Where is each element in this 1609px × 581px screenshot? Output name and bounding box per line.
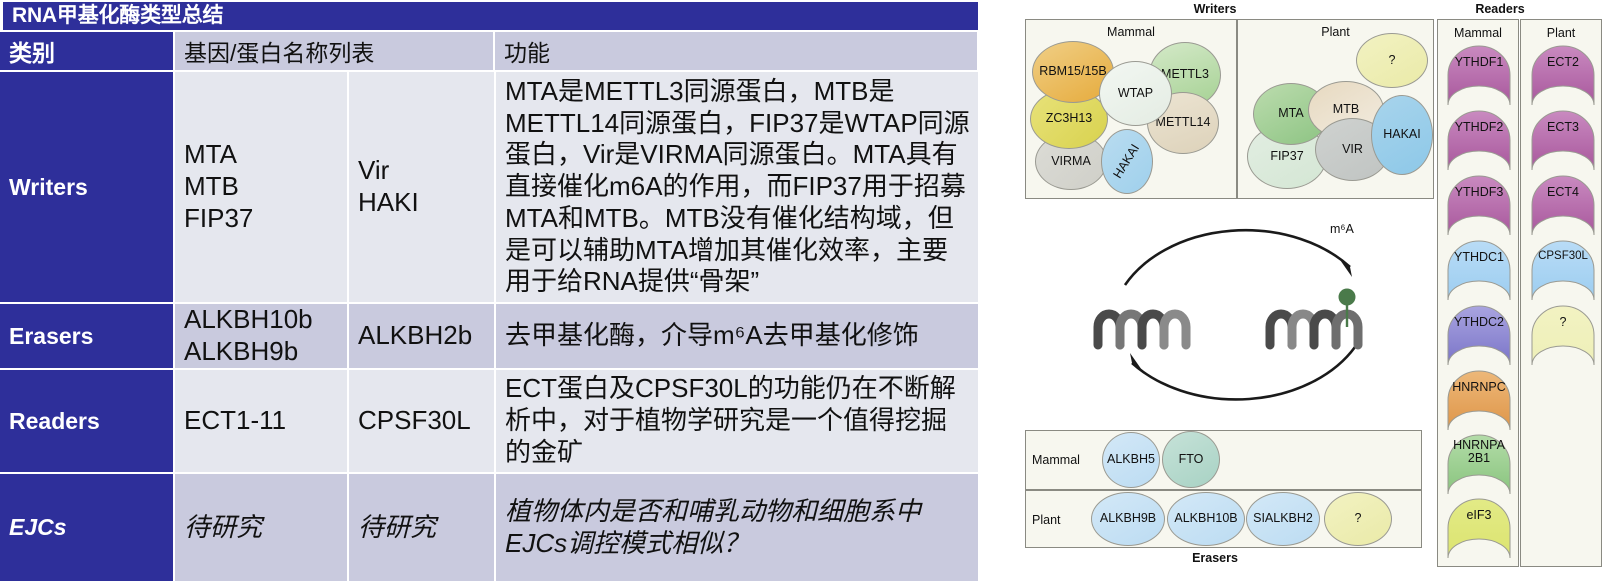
- table-row: Erasers ALKBH10b ALKBH9b ALKBH2b 去甲基化酶，介…: [0, 304, 978, 368]
- protein-wtap: WTAP: [1099, 61, 1172, 126]
- protein-label: MTA: [1278, 107, 1303, 120]
- genes-list-b: CPSF30L: [349, 405, 471, 437]
- row-category-writers: Writers: [0, 72, 173, 302]
- row-genes-b-writers: Vir HAKI: [349, 72, 494, 302]
- table-header-row: 类别 基因/蛋白名称列表 功能: [0, 32, 978, 70]
- protein-label: WTAP: [1118, 87, 1153, 100]
- reader-plant-unknown: ?: [1530, 305, 1596, 367]
- readers-plant-label: Plant: [1520, 26, 1602, 40]
- reader-cpsf30l: CPSF30L: [1530, 240, 1596, 302]
- genes-list-a: ECT1-11: [175, 405, 286, 437]
- category-label: EJCs: [0, 514, 67, 541]
- erasers-panel-title: Erasers: [1000, 551, 1430, 565]
- protein-label: ECT3: [1530, 121, 1596, 134]
- function-text: ECT蛋白及CPSF30L的功能仍在不断解析中，对于植物学研究是一个值得挖掘的金…: [496, 373, 978, 468]
- protein-label: ?: [1389, 54, 1396, 67]
- reader-hnrnpa2b1: HNRNPA 2B1: [1446, 434, 1512, 496]
- readers-panel-title: Readers: [1395, 2, 1605, 16]
- row-genes-b-readers: CPSF30L: [349, 370, 494, 472]
- genes-list-a: ALKBH10b ALKBH9b: [175, 304, 347, 367]
- protein-label: YTHDC1: [1446, 251, 1512, 264]
- protein-label: HNRNPA 2B1: [1446, 439, 1512, 465]
- protein-fto: FTO: [1162, 431, 1220, 488]
- protein-alkbh10b: ALKBH10B: [1167, 492, 1245, 546]
- genes-list-a: 待研究: [175, 512, 262, 544]
- reader-ythdc2: YTHDC2: [1446, 305, 1512, 367]
- row-genes-a-erasers: ALKBH10b ALKBH9b: [175, 304, 347, 368]
- slide-root: RNA甲基化酶类型总结 类别 基因/蛋白名称列表 功能 Writers: [0, 0, 1609, 581]
- header-label-genes: 基因/蛋白名称列表: [175, 34, 374, 68]
- row-genes-a-ejcs: 待研究: [175, 474, 347, 581]
- row-function-writers: MTA是METTL3同源蛋白，MTB是METTL14同源蛋白，FIP37是WTA…: [496, 72, 978, 302]
- protein-label: FIP37: [1270, 150, 1303, 163]
- protein-plant-unknown: ?: [1356, 33, 1428, 88]
- protein-label: ECT2: [1530, 56, 1596, 69]
- genes-list-b: ALKBH2b: [349, 320, 472, 352]
- protein-label: YTHDC2: [1446, 316, 1512, 329]
- m6a-machinery-diagram: Writers Readers Erasers Mammal Plant VIR…: [990, 0, 1609, 581]
- protein-label: FTO: [1179, 453, 1204, 466]
- protein-label: ZC3H13: [1046, 112, 1093, 125]
- reader-ect2: ECT2: [1530, 45, 1596, 107]
- header-label-category: 类别: [0, 34, 55, 68]
- protein-label: ALKBH5: [1107, 453, 1155, 466]
- protein-label: YTHDF1: [1446, 56, 1512, 69]
- row-function-erasers: 去甲基化酶，介导m⁶A去甲基化修饰: [496, 304, 978, 368]
- category-label: Readers: [0, 408, 100, 435]
- header-cell-category: 类别: [0, 32, 173, 70]
- protein-label: YTHDF3: [1446, 186, 1512, 199]
- protein-label: ECT4: [1530, 186, 1596, 199]
- protein-label: HNRNPC: [1446, 381, 1512, 394]
- reader-hnrnpc: HNRNPC: [1446, 370, 1512, 432]
- protein-label: METTL14: [1156, 116, 1211, 129]
- protein-label: YTHDF2: [1446, 121, 1512, 134]
- genes-list-b: 待研究: [349, 512, 436, 544]
- row-category-ejcs: EJCs: [0, 474, 173, 581]
- summary-table-panel: RNA甲基化酶类型总结 类别 基因/蛋白名称列表 功能 Writers: [0, 0, 980, 581]
- writers-mammal-label: Mammal: [1025, 25, 1237, 39]
- category-label: Writers: [0, 174, 88, 201]
- protein-label: CPSF30L: [1530, 251, 1596, 263]
- function-text: MTA是METTL3同源蛋白，MTB是METTL14同源蛋白，FIP37是WTA…: [496, 76, 978, 298]
- protein-label: MTB: [1333, 103, 1359, 116]
- row-genes-a-readers: ECT1-11: [175, 370, 347, 472]
- protein-label: eIF3: [1446, 509, 1512, 522]
- table-row: EJCs 待研究 待研究 植物体内是否和哺乳动物和细胞系中EJCs调控模式相似？: [0, 474, 978, 581]
- row-function-ejcs: 植物体内是否和哺乳动物和细胞系中EJCs调控模式相似？: [496, 474, 978, 581]
- reader-ect4: ECT4: [1530, 175, 1596, 237]
- summary-table: 类别 基因/蛋白名称列表 功能 Writers MTA MTB FIP37: [0, 32, 978, 581]
- reader-ect3: ECT3: [1530, 110, 1596, 172]
- row-genes-a-writers: MTA MTB FIP37: [175, 72, 347, 302]
- protein-label: ALKBH9B: [1100, 512, 1156, 525]
- header-cell-function: 功能: [495, 32, 977, 70]
- row-genes-b-ejcs: 待研究: [349, 474, 494, 581]
- protein-label: ALKBH10B: [1174, 512, 1237, 525]
- reader-ythdc1: YTHDC1: [1446, 240, 1512, 302]
- protein-eraser-plant-unknown: ?: [1324, 492, 1392, 546]
- protein-label: VIRMA: [1051, 155, 1091, 168]
- row-category-erasers: Erasers: [0, 304, 173, 368]
- header-cell-genes: 基因/蛋白名称列表: [175, 32, 493, 70]
- protein-label: ?: [1530, 316, 1596, 329]
- category-label: Erasers: [0, 323, 93, 350]
- row-category-readers: Readers: [0, 370, 173, 472]
- writers-panel-title: Writers: [1000, 2, 1430, 16]
- m6a-label: m⁶A: [1330, 222, 1354, 236]
- protein-hakai-plant: HAKAI: [1371, 95, 1433, 175]
- reader-eif3: eIF3: [1446, 498, 1512, 560]
- table-row: Writers MTA MTB FIP37 Vir HAKI MTA是METTL…: [0, 72, 978, 302]
- protein-hakai-mammal: HAKAI: [1101, 129, 1153, 194]
- reader-ythdf2: YTHDF2: [1446, 110, 1512, 172]
- reader-ythdf1: YTHDF1: [1446, 45, 1512, 107]
- function-text: 去甲基化酶，介导m⁶A去甲基化修饰: [496, 320, 926, 352]
- protein-label: HAKAI: [1383, 128, 1421, 141]
- readers-mammal-label: Mammal: [1437, 26, 1519, 40]
- methylation-cycle: [1070, 205, 1415, 415]
- header-label-function: 功能: [495, 34, 550, 68]
- protein-sialkbh2: SIALKBH2: [1246, 492, 1320, 546]
- table-row: Readers ECT1-11 CPSF30L ECT蛋白及CPSF30L的功能…: [0, 370, 978, 472]
- protein-alkbh9b: ALKBH9B: [1091, 492, 1165, 546]
- protein-label: HAKAI: [1111, 142, 1142, 181]
- row-genes-b-erasers: ALKBH2b: [349, 304, 494, 368]
- genes-list-a: MTA MTB FIP37: [175, 139, 347, 234]
- function-text: 植物体内是否和哺乳动物和细胞系中EJCs调控模式相似？: [496, 496, 978, 559]
- row-function-readers: ECT蛋白及CPSF30L的功能仍在不断解析中，对于植物学研究是一个值得挖掘的金…: [496, 370, 978, 472]
- protein-alkbh5: ALKBH5: [1102, 432, 1160, 488]
- genes-list-b: Vir HAKI: [349, 155, 494, 218]
- protein-label: ?: [1355, 512, 1362, 525]
- protein-label: SIALKBH2: [1253, 512, 1313, 525]
- protein-label: VIR: [1342, 143, 1363, 156]
- protein-label: RBM15/15B: [1039, 65, 1106, 78]
- reader-ythdf3: YTHDF3: [1446, 175, 1512, 237]
- page-title: RNA甲基化酶类型总结: [3, 2, 978, 30]
- erasers-mammal-label: Mammal: [1032, 453, 1102, 467]
